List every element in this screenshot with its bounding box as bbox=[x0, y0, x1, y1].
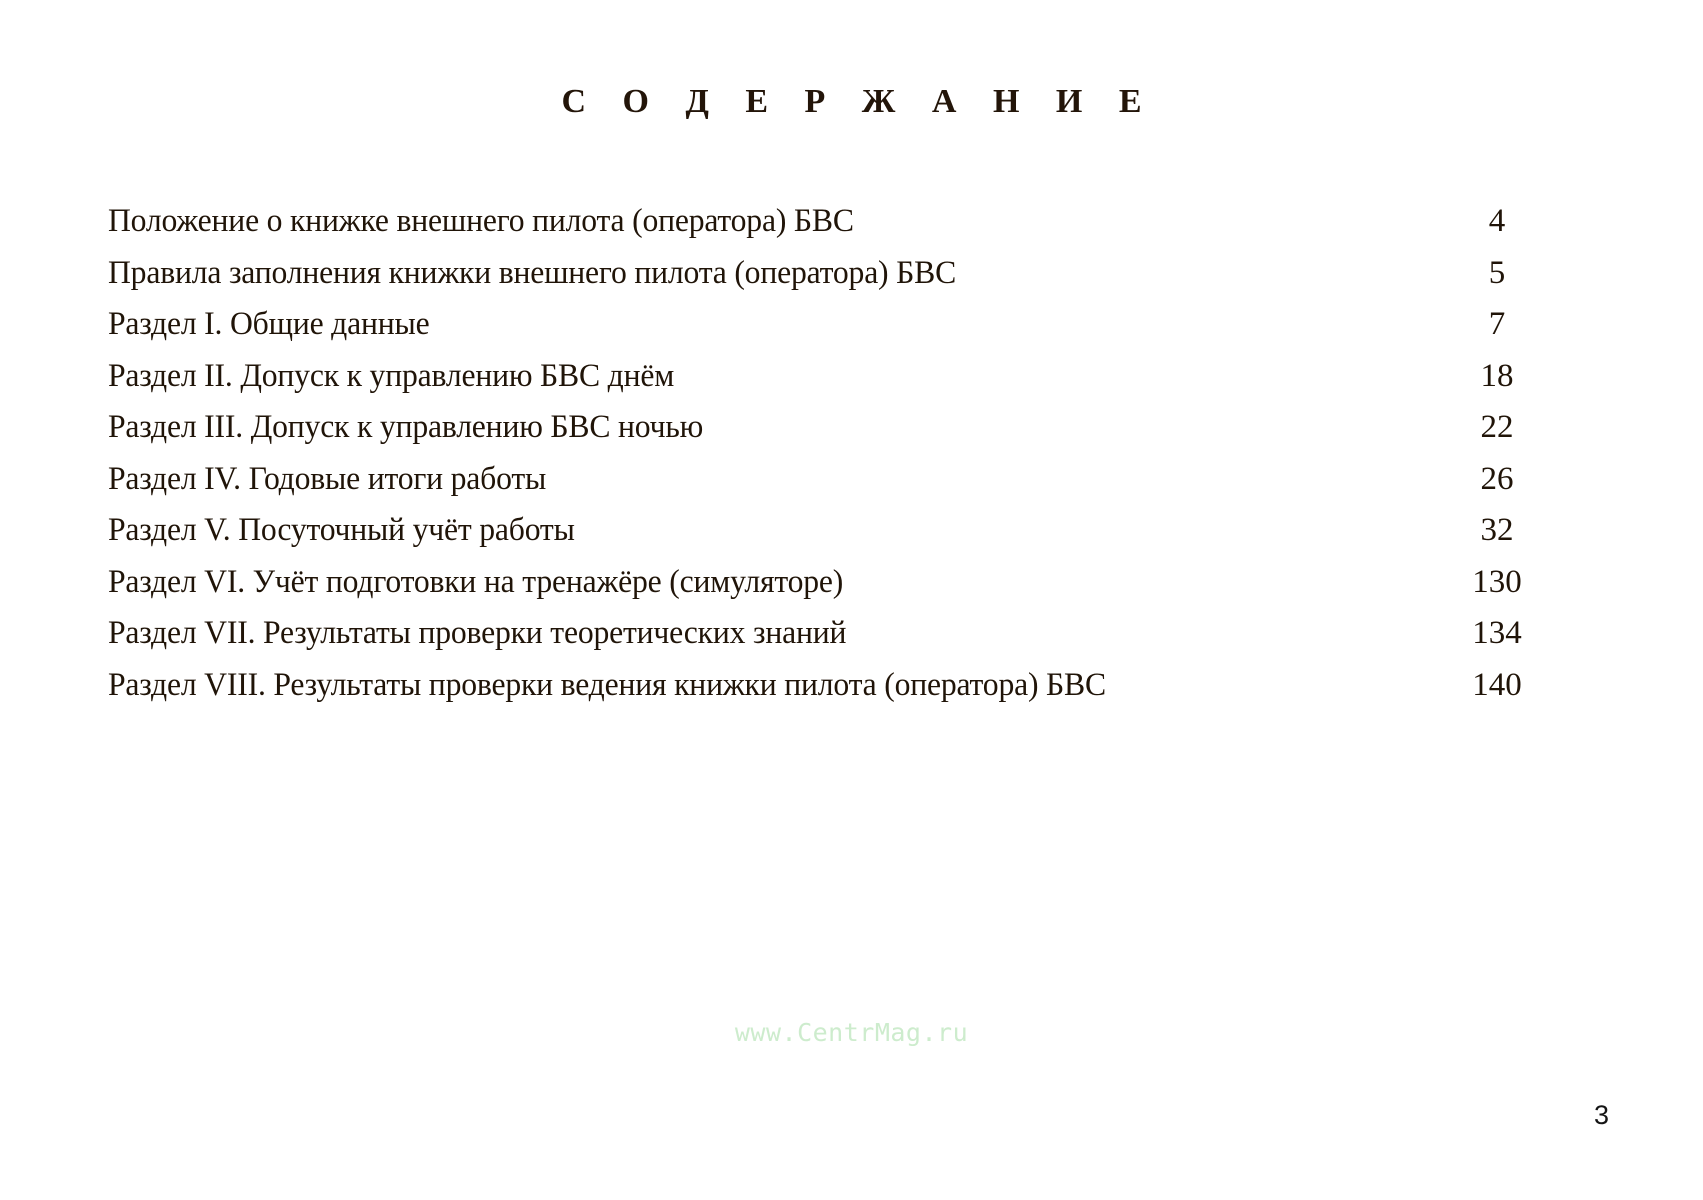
toc-page-number: 26 bbox=[1441, 463, 1553, 496]
toc-page-number: 22 bbox=[1441, 411, 1553, 444]
toc-row[interactable]: Положение о книжке внешнего пилота (опер… bbox=[108, 205, 1553, 257]
toc-entry-label: Раздел II. Допуск к управлению БВС днём bbox=[108, 360, 674, 393]
table-of-contents: Положение о книжке внешнего пилота (опер… bbox=[108, 205, 1553, 720]
toc-page-number: 140 bbox=[1441, 669, 1553, 702]
toc-page-number: 130 bbox=[1441, 566, 1553, 599]
toc-entry-label: Раздел VIII. Результаты проверки ведения… bbox=[108, 669, 1106, 702]
toc-page-number: 134 bbox=[1441, 617, 1553, 650]
toc-entry-label: Раздел VII. Результаты проверки теоретич… bbox=[108, 617, 846, 650]
page-folio-number: 3 bbox=[1594, 1100, 1609, 1131]
toc-row[interactable]: Раздел II. Допуск к управлению БВС днём … bbox=[108, 360, 1553, 412]
toc-entry-label: Раздел III. Допуск к управлению БВС ночь… bbox=[108, 411, 703, 444]
toc-row[interactable]: Раздел VI. Учёт подготовки на тренажёре … bbox=[108, 566, 1553, 618]
toc-row[interactable]: Раздел III. Допуск к управлению БВС ночь… bbox=[108, 411, 1553, 463]
site-watermark: www.CentrMag.ru bbox=[0, 1018, 1703, 1047]
toc-row[interactable]: Раздел VIII. Результаты проверки ведения… bbox=[108, 669, 1553, 721]
toc-row[interactable]: Раздел VII. Результаты проверки теоретич… bbox=[108, 617, 1553, 669]
toc-page-number: 7 bbox=[1441, 308, 1553, 341]
document-page: С О Д Е Р Ж А Н И Е Положение о книжке в… bbox=[0, 0, 1703, 1200]
toc-row[interactable]: Раздел I. Общие данные 7 bbox=[108, 308, 1553, 360]
toc-page-number: 18 bbox=[1441, 360, 1553, 393]
toc-entry-label: Раздел IV. Годовые итоги работы bbox=[108, 463, 546, 496]
toc-row[interactable]: Раздел IV. Годовые итоги работы 26 bbox=[108, 463, 1553, 515]
page-title: С О Д Е Р Ж А Н И Е bbox=[0, 83, 1703, 121]
toc-row[interactable]: Раздел V. Посуточный учёт работы 32 bbox=[108, 514, 1553, 566]
toc-entry-label: Положение о книжке внешнего пилота (опер… bbox=[108, 205, 854, 238]
toc-row[interactable]: Правила заполнения книжки внешнего пилот… bbox=[108, 257, 1553, 309]
toc-entry-label: Раздел V. Посуточный учёт работы bbox=[108, 514, 575, 547]
toc-page-number: 32 bbox=[1441, 514, 1553, 547]
toc-page-number: 4 bbox=[1441, 205, 1553, 238]
toc-entry-label: Раздел VI. Учёт подготовки на тренажёре … bbox=[108, 566, 843, 599]
toc-entry-label: Правила заполнения книжки внешнего пилот… bbox=[108, 257, 956, 290]
toc-page-number: 5 bbox=[1441, 257, 1553, 290]
toc-entry-label: Раздел I. Общие данные bbox=[108, 308, 429, 341]
